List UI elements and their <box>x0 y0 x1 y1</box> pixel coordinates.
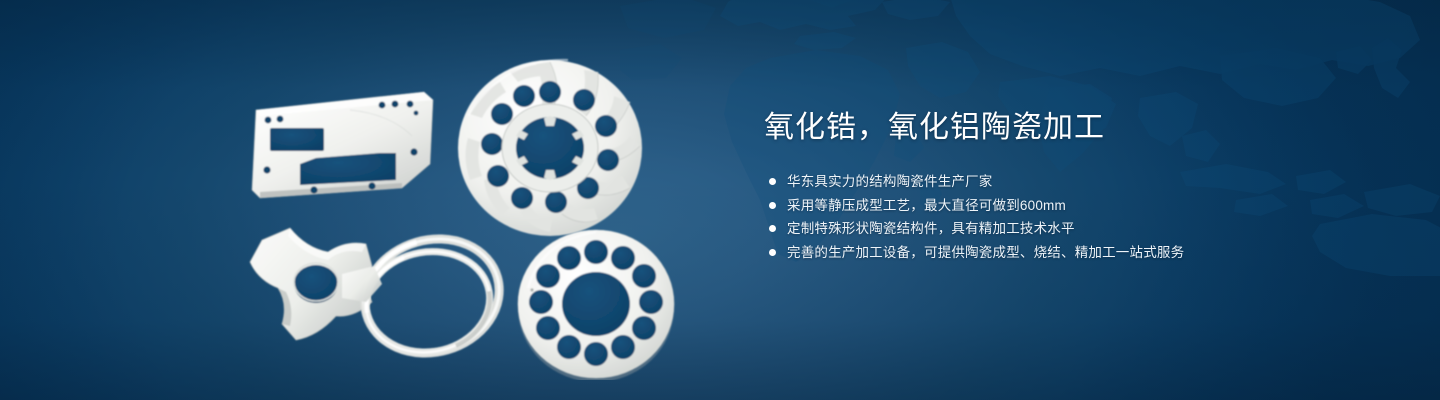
ceramic-mounting-plate <box>252 92 433 198</box>
feature-list: 华东具实力的结构陶瓷件生产厂家 采用等静压成型工艺，最大直径可做到600mm 定… <box>764 170 1384 264</box>
list-item: 完善的生产加工设备，可提供陶瓷成型、烧结、精加工一站式服务 <box>764 241 1384 264</box>
page-title: 氧化锆，氧化铝陶瓷加工 <box>764 108 1384 148</box>
list-item-label: 采用等静压成型工艺，最大直径可做到600mm <box>787 194 1066 217</box>
bullet-dot-icon <box>769 202 776 209</box>
banner-copy: 氧化锆，氧化铝陶瓷加工 华东具实力的结构陶瓷件生产厂家 采用等静压成型工艺，最大… <box>764 108 1384 264</box>
list-item: 定制特殊形状陶瓷结构件，具有精加工技术水平 <box>764 217 1384 240</box>
ceramic-rings <box>342 223 513 368</box>
hero-banner: 氧化锆，氧化铝陶瓷加工 华东具实力的结构陶瓷件生产厂家 采用等静压成型工艺，最大… <box>0 0 1440 400</box>
list-item: 采用等静压成型工艺，最大直径可做到600mm <box>764 194 1384 217</box>
list-item-label: 定制特殊形状陶瓷结构件，具有精加工技术水平 <box>787 217 1075 240</box>
list-item-label: 华东具实力的结构陶瓷件生产厂家 <box>787 170 993 193</box>
list-item: 华东具实力的结构陶瓷件生产厂家 <box>764 170 1384 193</box>
bullet-dot-icon <box>769 225 776 232</box>
list-item-label: 完善的生产加工设备，可提供陶瓷成型、烧结、精加工一站式服务 <box>787 241 1184 264</box>
bullet-dot-icon <box>769 178 776 185</box>
ceramic-impeller <box>458 60 642 236</box>
product-photo-cluster <box>230 40 700 380</box>
ceramic-valve-plate <box>518 230 674 380</box>
bullet-dot-icon <box>769 249 776 256</box>
